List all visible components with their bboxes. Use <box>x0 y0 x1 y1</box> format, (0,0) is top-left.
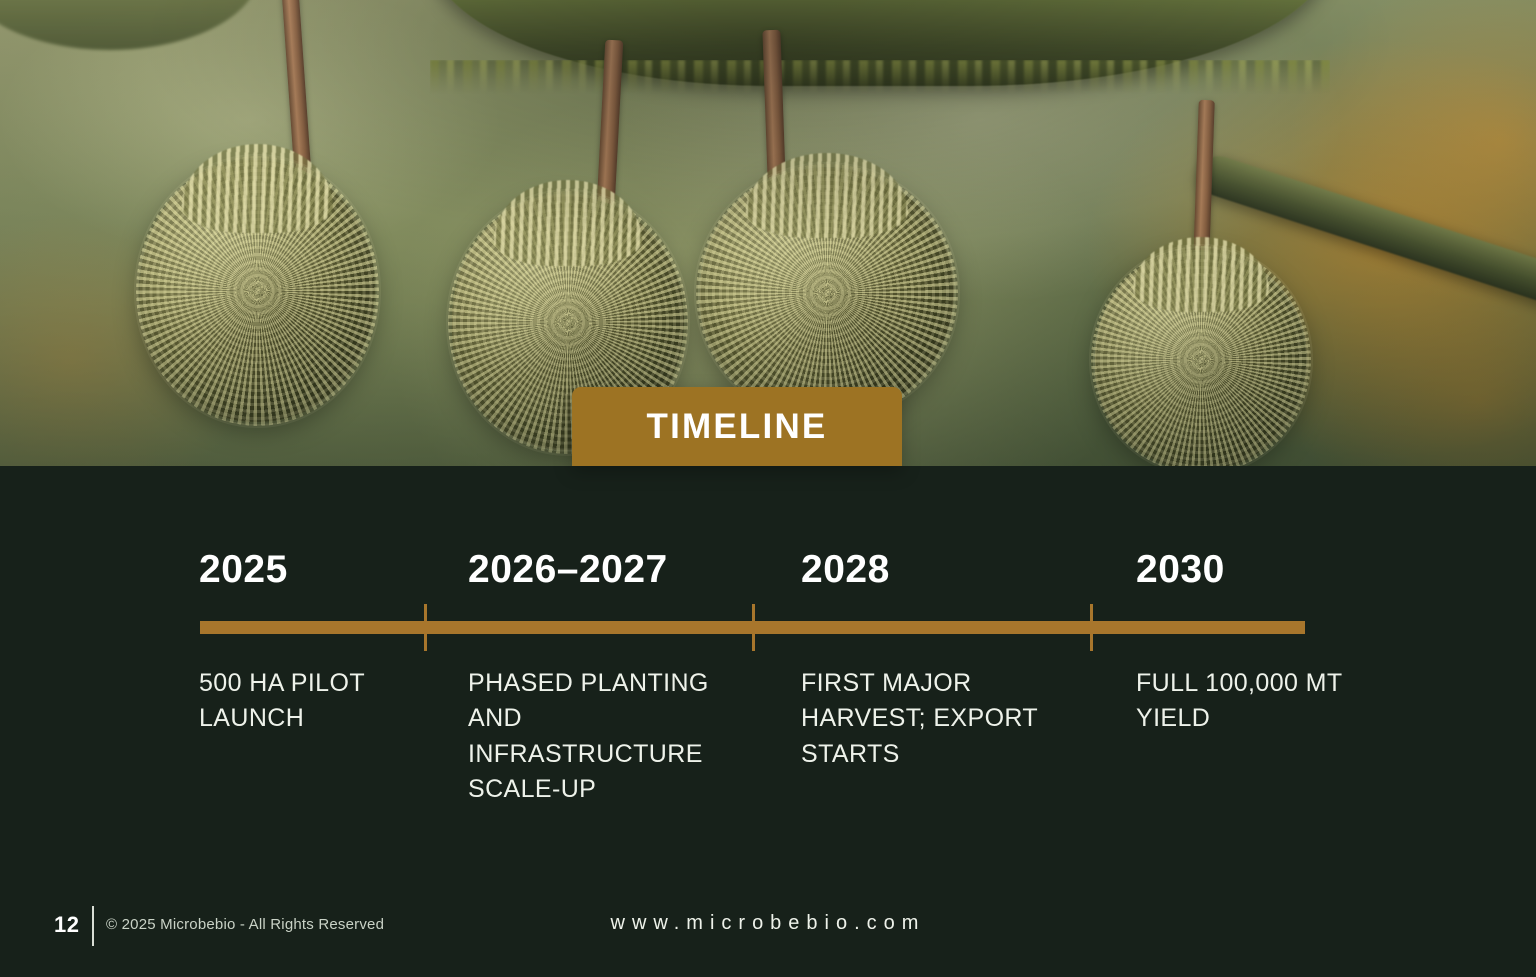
timeline-slide: TIMELINE 20252026–202720282030 500 HA PI… <box>0 0 1536 977</box>
timeline-year-labels: 20252026–202720282030 <box>0 548 1536 602</box>
timeline-tick-1 <box>752 604 755 651</box>
timeline-tick-0 <box>424 604 427 651</box>
website-url: www.microbebio.com <box>0 912 1536 935</box>
slide-footer: 12 © 2025 Microbebio - All Rights Reserv… <box>0 900 1536 960</box>
branch-left-segment <box>0 0 260 50</box>
timeline-description-3: FULL 100,000 MT YIELD <box>1136 666 1386 737</box>
durian-fruit-3 <box>700 168 954 418</box>
timeline-year-1: 2026–2027 <box>468 548 668 592</box>
timeline-tick-2 <box>1090 604 1093 651</box>
timeline-badge: TIMELINE <box>572 387 902 466</box>
timeline-badge-label: TIMELINE <box>647 407 828 447</box>
timeline-description-0: 500 HA PILOT LAUNCH <box>199 666 449 737</box>
durian-fruit-4 <box>1095 250 1307 466</box>
timeline-year-0: 2025 <box>199 548 288 592</box>
timeline-year-2: 2028 <box>801 548 890 592</box>
durian-fruit-1 <box>140 160 375 422</box>
timeline-description-1: PHASED PLANTING AND INFRASTRUCTURE SCALE… <box>468 666 743 807</box>
moss-fringe <box>430 60 1330 94</box>
timeline-description-2: FIRST MAJOR HARVEST; EXPORT STARTS <box>801 666 1071 772</box>
timeline-year-3: 2030 <box>1136 548 1225 592</box>
